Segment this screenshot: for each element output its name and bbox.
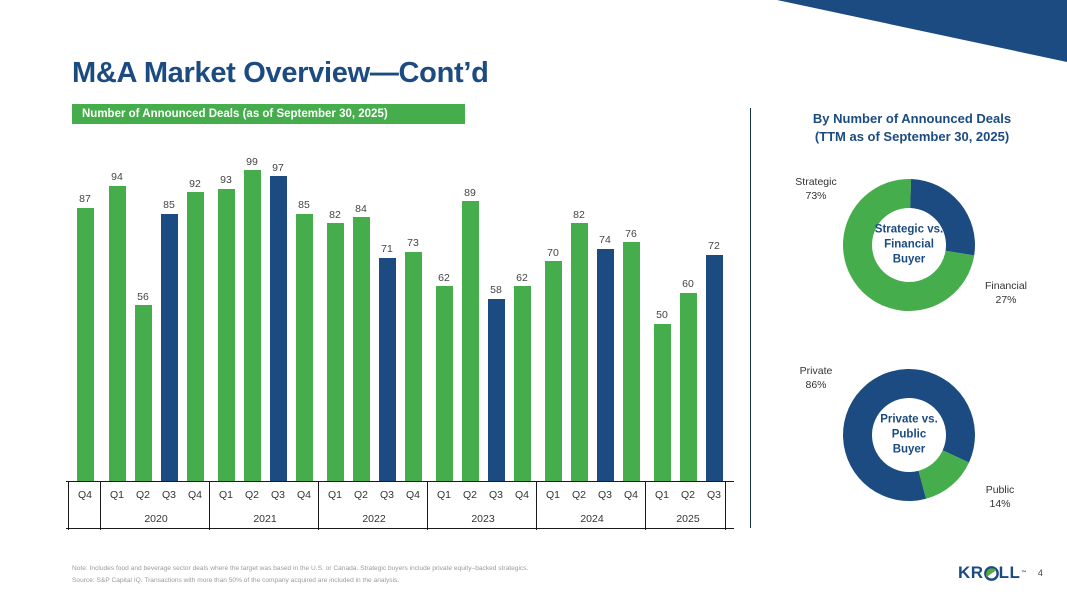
bar-rect [623, 242, 640, 481]
donut-center-label: Private vs.PublicBuyer [866, 413, 952, 458]
bar-column: 74 [592, 140, 618, 481]
axis-quarter-labels: Q4Q1Q2Q3Q4Q1Q2Q3Q4Q1Q2Q3Q4Q1Q2Q3Q4Q1Q2Q3… [66, 482, 734, 508]
donut-center-line: Buyer [866, 442, 952, 457]
donut-2-public-name: Public [962, 483, 1038, 497]
axis-quarter-label: Q3 [483, 482, 509, 508]
bar-value-label: 89 [464, 188, 476, 199]
bar-column: 85 [291, 140, 317, 481]
axis-quarter-label: Q2 [566, 482, 592, 508]
donut-2-private-name: Private [778, 364, 854, 378]
donut-title-line-1: By Number of Announced Deals [762, 110, 1062, 128]
bar-value-label: 82 [329, 210, 341, 221]
axis-group-separator [427, 482, 428, 530]
donut-section-title: By Number of Announced Deals (TTM as of … [762, 110, 1062, 145]
donut-2-public-value: 14% [962, 497, 1038, 511]
axis-quarter-label: Q2 [675, 482, 701, 508]
axis-group-separator [68, 482, 69, 530]
axis-quarter-label: Q4 [509, 482, 535, 508]
bar-value-label: 70 [547, 248, 559, 259]
bar-column: 99 [239, 140, 265, 481]
bar-value-label: 72 [708, 241, 720, 252]
bar-chart-axis: Q4Q1Q2Q3Q4Q1Q2Q3Q4Q1Q2Q3Q4Q1Q2Q3Q4Q1Q2Q3… [66, 481, 734, 529]
bar-column: 73 [400, 140, 426, 481]
bar-rect [244, 170, 261, 481]
axis-quarter-label: Q1 [322, 482, 348, 508]
bar-column: 62 [509, 140, 535, 481]
bar-rect [597, 249, 614, 481]
bar-value-label: 85 [163, 200, 175, 211]
bar-rect [353, 217, 370, 481]
axis-quarter-label: Q1 [540, 482, 566, 508]
bar-rect [654, 324, 671, 481]
axis-quarter-label: Q2 [348, 482, 374, 508]
bar-value-label: 76 [625, 229, 637, 240]
bar-rect [187, 192, 204, 481]
bar-rect [296, 214, 313, 481]
bar-value-label: 58 [490, 285, 502, 296]
axis-quarter-label: Q4 [618, 482, 644, 508]
bar-rect [680, 293, 697, 481]
bar-rect [488, 299, 505, 481]
donut-center-label: Strategic vs.FinancialBuyer [866, 223, 952, 268]
donut-2-label-private: Private 86% [778, 364, 854, 392]
donut-1-strategic-value: 73% [778, 189, 854, 203]
donut-1-financial-name: Financial [968, 279, 1044, 293]
bar-value-label: 60 [682, 279, 694, 290]
axis-quarter-label: Q2 [130, 482, 156, 508]
kroll-logo-tm: ™ [1021, 570, 1027, 576]
slide: M&A Market Overview—Cont’d Number of Ann… [0, 0, 1067, 600]
bar-rect [218, 189, 235, 481]
donut-center-line: Private vs. [866, 413, 952, 428]
bar-rect [135, 305, 152, 481]
bar-value-label: 84 [355, 204, 367, 215]
bar-column: 71 [374, 140, 400, 481]
bar-column: 60 [675, 140, 701, 481]
bar-rect [161, 214, 178, 481]
bar-rect [436, 286, 453, 481]
bar-value-label: 99 [246, 157, 258, 168]
donut-1-financial-value: 27% [968, 293, 1044, 307]
axis-quarter-label: Q1 [431, 482, 457, 508]
bar-value-label: 92 [189, 179, 201, 190]
bar-chart-plot-area: 8794568592939997858284717362895862708274… [66, 140, 734, 481]
axis-quarter-label: Q1 [104, 482, 130, 508]
kroll-logo: KR LL ™ [958, 563, 1027, 583]
axis-group-separator [209, 482, 210, 530]
section-divider [750, 108, 751, 528]
axis-year-label: 2025 [649, 508, 727, 530]
axis-quarter-label: Q3 [592, 482, 618, 508]
bar-rect [405, 252, 422, 481]
page-number: 4 [1038, 568, 1043, 578]
bar-rect [571, 223, 588, 481]
axis-quarter-label: Q3 [156, 482, 182, 508]
axis-quarter-label: Q4 [72, 482, 98, 508]
donut-1-label-strategic: Strategic 73% [778, 175, 854, 203]
bar-rect [379, 258, 396, 481]
axis-quarter-label: Q1 [213, 482, 239, 508]
donut-1-strategic-name: Strategic [778, 175, 854, 189]
donut-center-line: Public [866, 428, 952, 443]
axis-quarter-label: Q2 [457, 482, 483, 508]
axis-group-separator [318, 482, 319, 530]
bar-value-label: 82 [573, 210, 585, 221]
bar-column: 89 [457, 140, 483, 481]
bar-column: 93 [213, 140, 239, 481]
kroll-logo-text-left: KR [958, 563, 984, 583]
bar-rect [327, 223, 344, 481]
bar-rect [462, 201, 479, 481]
bar-column: 58 [483, 140, 509, 481]
donut-center-line: Financial [866, 238, 952, 253]
footnote-note: Note: Includes food and beverage sector … [72, 563, 712, 575]
bar-column: 85 [156, 140, 182, 481]
axis-year-label: 2021 [213, 508, 317, 530]
bar-value-label: 74 [599, 235, 611, 246]
axis-quarter-label: Q3 [701, 482, 727, 508]
deals-bar-chart: 8794568592939997858284717362895862708274… [66, 140, 734, 530]
axis-quarter-label: Q4 [182, 482, 208, 508]
private-vs-public-donut: Private vs.PublicBuyer [841, 367, 977, 503]
axis-year-label: 2023 [431, 508, 535, 530]
bar-value-label: 62 [516, 273, 528, 284]
axis-quarter-label: Q4 [400, 482, 426, 508]
axis-year-label: 2022 [322, 508, 426, 530]
axis-group-separator [645, 482, 646, 530]
kroll-logo-text-right: LL [999, 563, 1021, 583]
footnotes: Note: Includes food and beverage sector … [72, 563, 712, 586]
bar-value-label: 97 [272, 163, 284, 174]
bar-column: 92 [182, 140, 208, 481]
axis-year-label: 2020 [104, 508, 208, 530]
bar-value-label: 94 [111, 172, 123, 183]
bar-column: 87 [72, 140, 98, 481]
bar-column: 70 [540, 140, 566, 481]
section-banner: Number of Announced Deals (as of Septemb… [72, 104, 465, 124]
bar-column: 50 [649, 140, 675, 481]
bar-value-label: 56 [137, 292, 149, 303]
bar-rect [77, 208, 94, 481]
bar-column: 62 [431, 140, 457, 481]
section-banner-label: Number of Announced Deals (as of Septemb… [72, 108, 388, 120]
axis-quarter-label: Q1 [649, 482, 675, 508]
donut-2-private-value: 86% [778, 378, 854, 392]
axis-quarter-label: Q3 [374, 482, 400, 508]
axis-quarter-label: Q2 [239, 482, 265, 508]
axis-group-separator [100, 482, 101, 530]
bar-rect [514, 286, 531, 481]
corner-wedge-decoration [777, 0, 1067, 62]
bar-column: 72 [701, 140, 727, 481]
axis-year-label: 2024 [540, 508, 644, 530]
bar-value-label: 73 [407, 238, 419, 249]
kroll-logo-block: KR LL ™ 4 [958, 563, 1043, 583]
page-title: M&A Market Overview—Cont’d [72, 57, 489, 90]
axis-group-separator [536, 482, 537, 530]
bar-column: 94 [104, 140, 130, 481]
bar-column: 76 [618, 140, 644, 481]
bar-rect [706, 255, 723, 481]
donut-1-label-financial: Financial 27% [968, 279, 1044, 307]
donut-2-label-public: Public 14% [962, 483, 1038, 511]
bar-value-label: 50 [656, 310, 668, 321]
donut-title-line-2: (TTM as of September 30, 2025) [762, 128, 1062, 146]
donut-center-line: Strategic vs. [866, 223, 952, 238]
bar-column: 56 [130, 140, 156, 481]
bar-column: 82 [566, 140, 592, 481]
axis-quarter-label: Q3 [265, 482, 291, 508]
axis-quarter-label: Q4 [291, 482, 317, 508]
bar-rect [270, 176, 287, 481]
donut-center-line: Buyer [866, 252, 952, 267]
bar-column: 82 [322, 140, 348, 481]
bar-rect [545, 261, 562, 481]
bar-rect [109, 186, 126, 481]
bar-value-label: 71 [381, 244, 393, 255]
bar-column: 97 [265, 140, 291, 481]
bar-value-label: 85 [298, 200, 310, 211]
bar-column: 84 [348, 140, 374, 481]
bar-value-label: 93 [220, 175, 232, 186]
bar-value-label: 62 [438, 273, 450, 284]
footnote-source: Source: S&P Capital IQ. Transactions wit… [72, 575, 712, 587]
kroll-logo-mark-icon [984, 566, 999, 581]
axis-group-separator [725, 482, 726, 530]
axis-year-labels: 202020212022202320242025 [66, 508, 734, 530]
bar-value-label: 87 [79, 194, 91, 205]
strategic-vs-financial-donut: Strategic vs.FinancialBuyer [841, 177, 977, 313]
